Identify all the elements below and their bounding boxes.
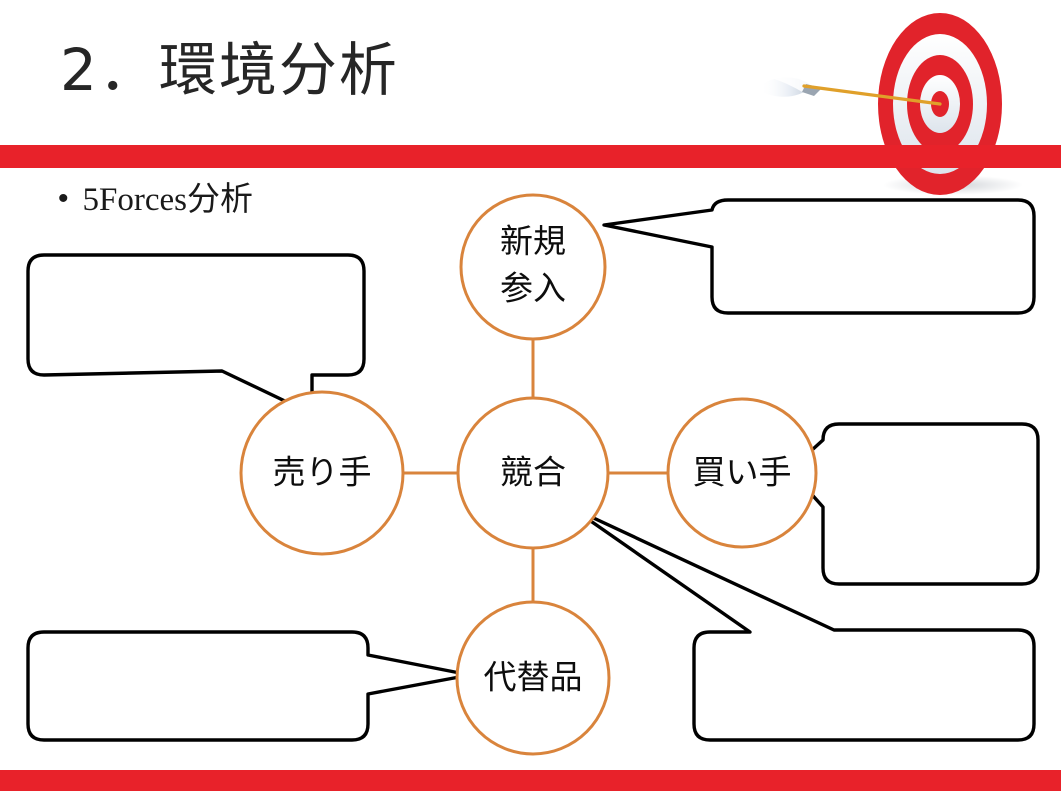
page-title: 2．環境分析 — [60, 40, 399, 101]
slide-canvas: 2．環境分析 — [0, 0, 1061, 797]
node-group — [241, 195, 816, 754]
connector-group — [403, 339, 668, 602]
node-new-entrants-circle[interactable] — [461, 195, 605, 339]
node-suppliers-circle[interactable] — [241, 392, 403, 554]
bullet-label: 5Forces分析 — [83, 182, 253, 218]
accent-bar-top — [0, 145, 1061, 168]
node-buyers-circle[interactable] — [668, 399, 816, 547]
node-suppliers-label: 売り手 — [273, 453, 372, 492]
bullet-marker-icon: • — [58, 182, 69, 216]
callout-rivalry-shape[interactable] — [572, 508, 1034, 740]
node-new-entrants-label-line2: 参入 — [500, 269, 566, 308]
node-rivalry-circle[interactable] — [458, 398, 608, 548]
bullet-list-item: • 5Forces分析 — [58, 182, 253, 218]
callout-suppliers-shape[interactable] — [28, 255, 364, 414]
bullseye-target-graphic — [0, 0, 1061, 797]
node-new-entrants-label-line1: 新規 — [500, 222, 566, 261]
five-forces-diagram: 新規 参入 売り手 競合 買い手 代替品 — [0, 0, 1061, 797]
callout-buyers-shape[interactable] — [790, 424, 1038, 584]
callout-substitutes-shape[interactable] — [28, 632, 470, 740]
node-buyers-label: 買い手 — [693, 453, 792, 492]
callout-new-entrants-shape[interactable] — [604, 200, 1034, 313]
accent-bar-bottom — [0, 770, 1061, 791]
node-rivalry-label: 競合 — [500, 453, 566, 492]
node-substitutes-circle[interactable] — [457, 602, 609, 754]
node-substitutes-label: 代替品 — [484, 658, 583, 697]
